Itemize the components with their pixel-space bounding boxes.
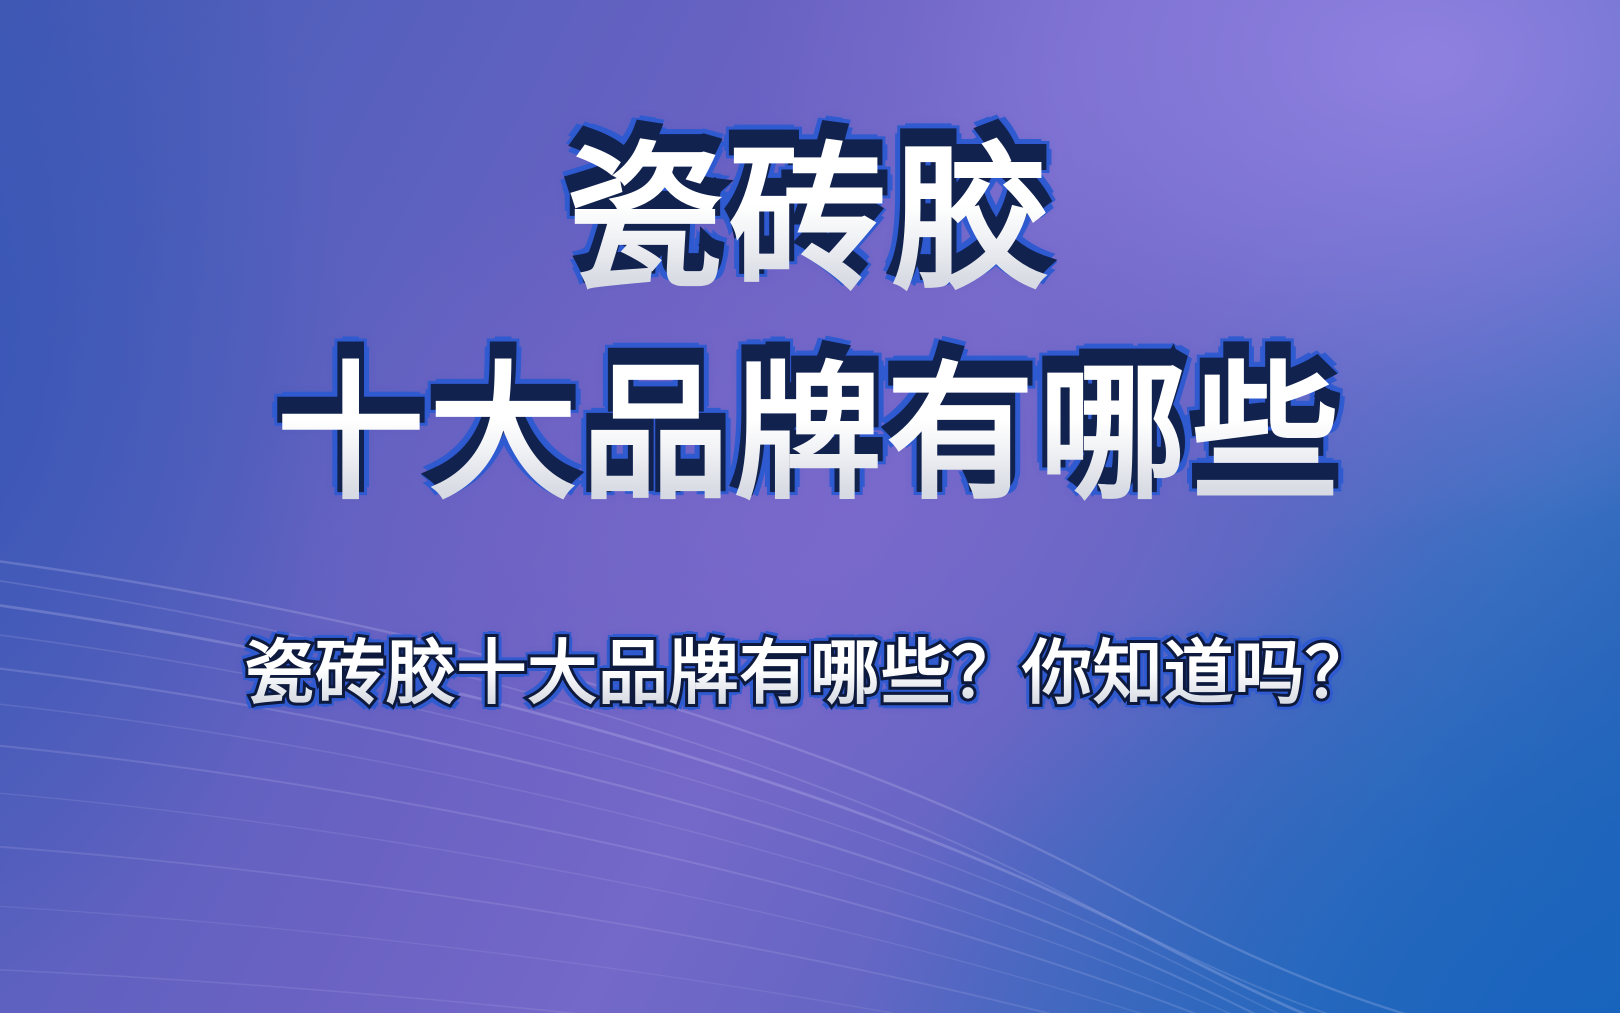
subtitle: 瓷砖胶十大品牌有哪些？你知道吗？ 瓷砖胶十大品牌有哪些？你知道吗？ [244,638,1375,708]
headline-line2: 十大品牌有哪些 十大品牌有哪些 [276,348,1343,520]
background-top-right-purple-bloom [0,0,1620,1013]
background-center-purple-core [0,0,1620,1013]
headline-line1-row: 瓷砖胶 瓷砖胶 [566,128,1054,312]
subtitle-row: 瓷砖胶十大品牌有哪些？你知道吗？ 瓷砖胶十大品牌有哪些？你知道吗？ [244,638,1375,708]
headline-line1-outline: 瓷砖胶 [566,128,1054,286]
headline-line2-row: 十大品牌有哪些 十大品牌有哪些 [276,348,1343,520]
background-left-blue-wash [0,0,1620,1013]
background-bottom-right-blue-wash [0,0,1620,1013]
decorative-swoosh-lines [0,0,1620,1013]
headline-line1-text: 瓷砖胶 [566,128,1054,312]
poster-canvas: 瓷砖胶 瓷砖胶 十大品牌有哪些 十大品牌有哪些 瓷砖胶十大品牌有哪些？你知道吗？… [0,0,1620,1013]
headline-line2-text: 十大品牌有哪些 [276,348,1343,520]
poster-content: 瓷砖胶 瓷砖胶 十大品牌有哪些 十大品牌有哪些 瓷砖胶十大品牌有哪些？你知道吗？… [0,0,1620,1013]
subtitle-outline: 瓷砖胶十大品牌有哪些？你知道吗？ [244,638,1375,708]
headline-line2-outline: 十大品牌有哪些 [276,348,1343,496]
subtitle-text: 瓷砖胶十大品牌有哪些？你知道吗？ [244,632,1375,714]
background-base-gradient [0,0,1620,1013]
headline-line1: 瓷砖胶 瓷砖胶 [566,128,1054,312]
